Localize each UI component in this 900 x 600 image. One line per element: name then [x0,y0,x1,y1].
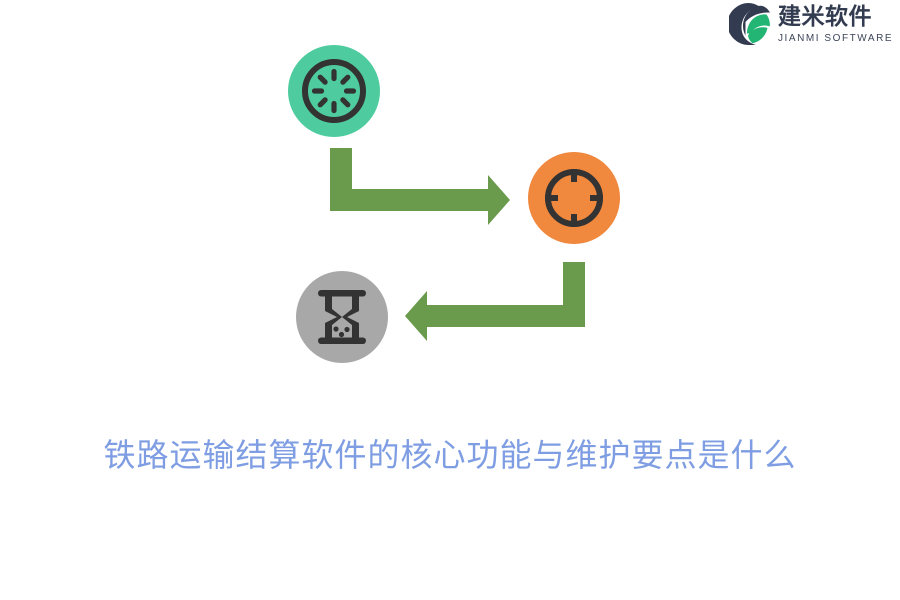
process-flow-diagram [0,0,900,420]
page-title: 铁路运输结算软件的核心功能与维护要点是什么 [0,428,900,482]
flow-node-target [528,152,620,244]
page-canvas: 建米软件 JIANMI SOFTWARE [0,0,900,600]
tire-wheel-icon [299,56,369,126]
connector-target-to-hourglass [405,262,585,341]
hourglass-icon [309,284,375,350]
crosshair-target-icon [539,163,609,233]
flow-node-wheel [288,45,380,137]
connector-wheel-to-target [330,148,510,225]
flow-node-hourglass [296,271,388,363]
flow-connectors [0,0,900,420]
